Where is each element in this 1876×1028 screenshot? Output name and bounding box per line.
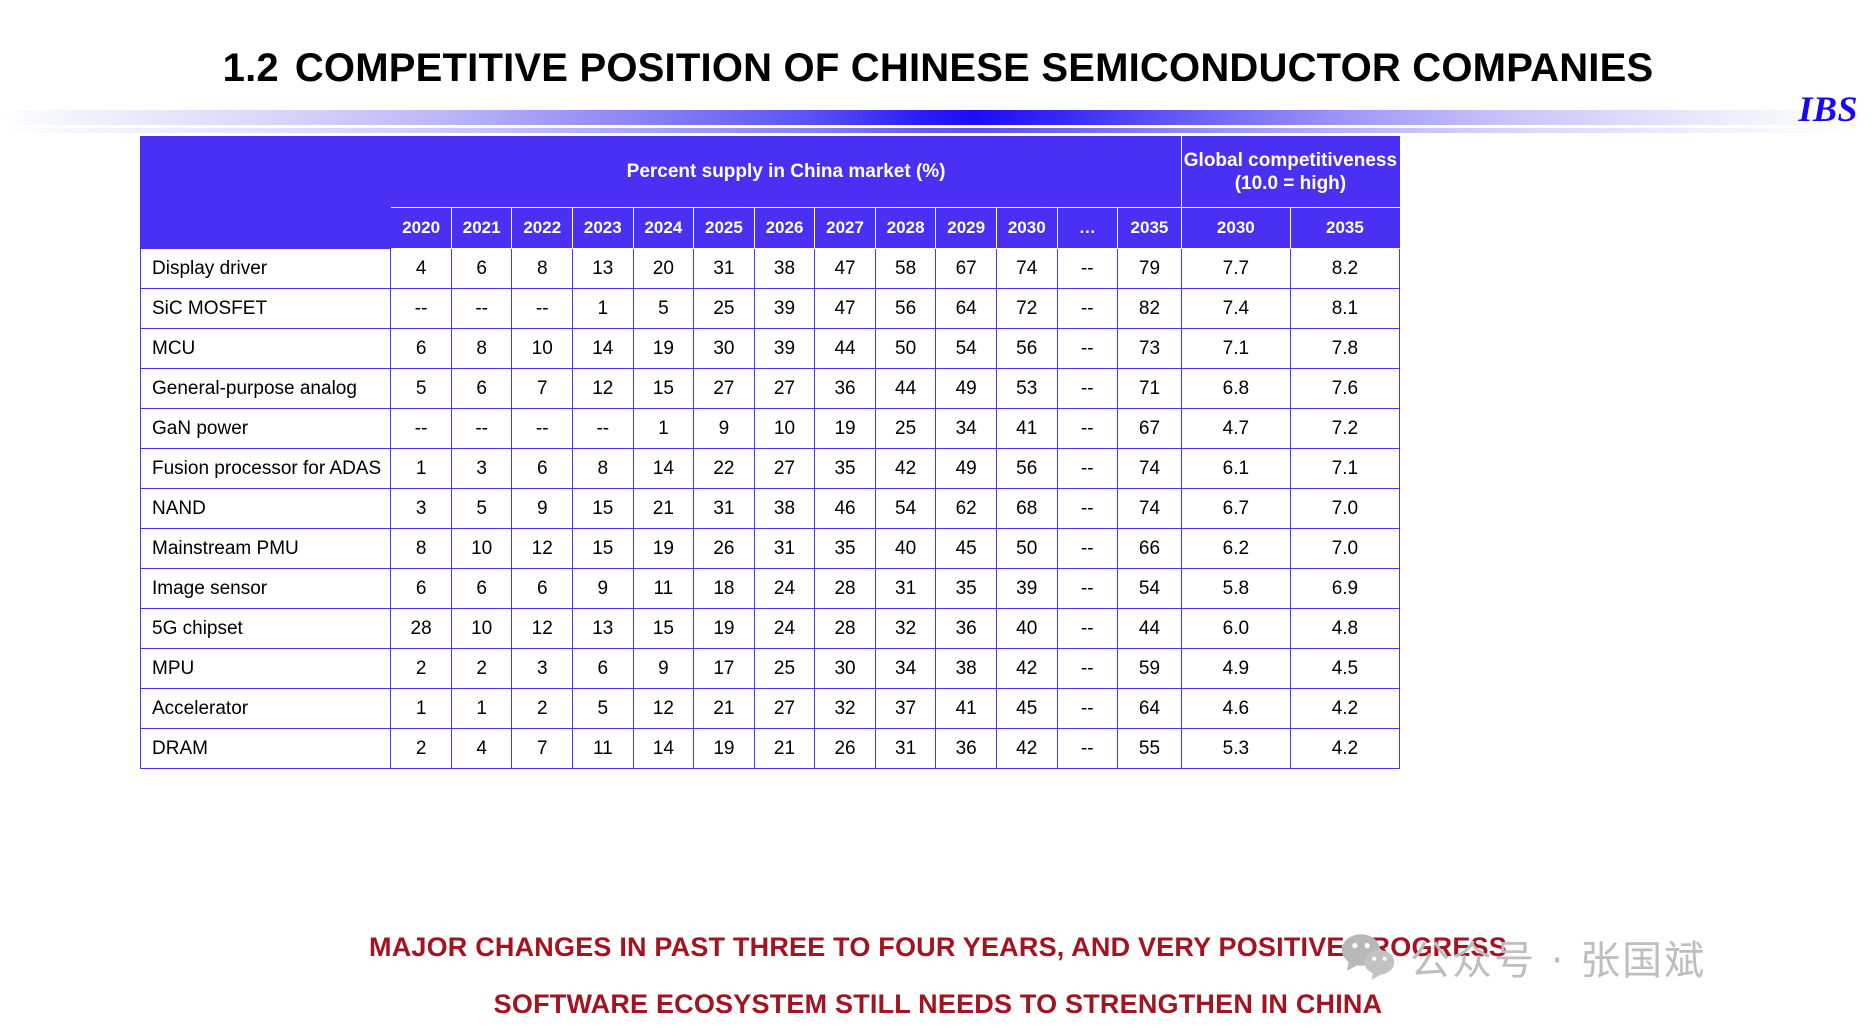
row-label: General-purpose analog: [141, 369, 391, 409]
cell-supply: 6: [451, 569, 512, 609]
cell-competitiveness: 4.7: [1181, 409, 1290, 449]
cell-supply: 2: [391, 649, 452, 689]
cell-supply: 50: [996, 529, 1057, 569]
cell-supply: 44: [1118, 609, 1182, 649]
cell-supply: 62: [936, 489, 997, 529]
cell-supply: 18: [694, 569, 755, 609]
cell-supply: --: [1057, 729, 1118, 769]
cell-supply: 6: [573, 649, 634, 689]
table-row: MPU22369172530343842--594.94.5: [141, 649, 1400, 689]
ibs-logo: IBS: [1798, 88, 1858, 130]
cell-supply: 68: [996, 489, 1057, 529]
cell-supply: --: [1057, 609, 1118, 649]
table-row: Display driver4681320313847586774--797.7…: [141, 249, 1400, 289]
cell-supply: 1: [391, 689, 452, 729]
header-gc-line2: (10.0 = high): [1182, 172, 1399, 195]
cell-supply: 24: [754, 609, 815, 649]
cell-supply: 5: [633, 289, 694, 329]
cell-supply: 74: [996, 249, 1057, 289]
cell-supply: 74: [1118, 449, 1182, 489]
cell-supply: 56: [996, 329, 1057, 369]
cell-supply: 67: [936, 249, 997, 289]
cell-supply: --: [1057, 449, 1118, 489]
cell-supply: 6: [512, 569, 573, 609]
cell-supply: 19: [694, 729, 755, 769]
cell-competitiveness: 4.5: [1290, 649, 1399, 689]
cell-supply: 31: [694, 489, 755, 529]
cell-supply: 41: [936, 689, 997, 729]
cell-competitiveness: 7.6: [1290, 369, 1399, 409]
cell-supply: 39: [996, 569, 1057, 609]
table-body: Display driver4681320313847586774--797.7…: [141, 249, 1400, 769]
cell-supply: 2: [451, 649, 512, 689]
row-label: MCU: [141, 329, 391, 369]
cell-supply: 42: [996, 649, 1057, 689]
cell-supply: 10: [754, 409, 815, 449]
cell-supply: 12: [512, 609, 573, 649]
cell-competitiveness: 6.9: [1290, 569, 1399, 609]
cell-supply: 3: [451, 449, 512, 489]
cell-supply: 1: [451, 689, 512, 729]
row-label: SiC MOSFET: [141, 289, 391, 329]
cell-supply: 28: [815, 609, 876, 649]
cell-supply: 12: [512, 529, 573, 569]
cell-competitiveness: 5.8: [1181, 569, 1290, 609]
cell-supply: 9: [573, 569, 634, 609]
cell-supply: 19: [633, 329, 694, 369]
cell-supply: 45: [936, 529, 997, 569]
cell-competitiveness: 6.2: [1181, 529, 1290, 569]
cell-supply: 25: [694, 289, 755, 329]
cell-supply: --: [1057, 649, 1118, 689]
cell-supply: 21: [694, 689, 755, 729]
cell-supply: --: [1057, 329, 1118, 369]
header-year-2029: 2029: [936, 208, 997, 249]
row-label: GaN power: [141, 409, 391, 449]
cell-supply: 66: [1118, 529, 1182, 569]
cell-supply: 26: [694, 529, 755, 569]
cell-competitiveness: 4.8: [1290, 609, 1399, 649]
cell-supply: 74: [1118, 489, 1182, 529]
cell-supply: 47: [815, 249, 876, 289]
cell-supply: 56: [996, 449, 1057, 489]
cell-supply: 14: [633, 729, 694, 769]
table-row: DRAM2471114192126313642--555.34.2: [141, 729, 1400, 769]
cell-competitiveness: 7.2: [1290, 409, 1399, 449]
cell-supply: --: [451, 289, 512, 329]
cell-supply: 4: [451, 729, 512, 769]
cell-supply: --: [1057, 569, 1118, 609]
cell-supply: 31: [694, 249, 755, 289]
cell-supply: 13: [573, 609, 634, 649]
cell-supply: 24: [754, 569, 815, 609]
cell-competitiveness: 8.2: [1290, 249, 1399, 289]
cell-supply: 6: [512, 449, 573, 489]
cell-supply: 42: [875, 449, 936, 489]
cell-supply: 44: [815, 329, 876, 369]
cell-supply: 28: [391, 609, 452, 649]
cell-supply: 6: [451, 369, 512, 409]
header-gc-year-2030: 2030: [1181, 208, 1290, 249]
cell-supply: 15: [573, 529, 634, 569]
cell-supply: 40: [996, 609, 1057, 649]
cell-supply: --: [512, 289, 573, 329]
cell-competitiveness: 7.0: [1290, 529, 1399, 569]
cell-supply: 67: [1118, 409, 1182, 449]
cell-supply: 38: [754, 489, 815, 529]
cell-supply: 27: [754, 369, 815, 409]
cell-supply: 14: [573, 329, 634, 369]
data-table: Percent supply in China market (%) Globa…: [140, 136, 1400, 769]
cell-supply: 71: [1118, 369, 1182, 409]
gradient-bar-secondary: [0, 128, 1876, 133]
cell-supply: --: [1057, 249, 1118, 289]
cell-supply: 8: [391, 529, 452, 569]
cell-supply: 42: [996, 729, 1057, 769]
cell-supply: 31: [754, 529, 815, 569]
cell-supply: 21: [754, 729, 815, 769]
cell-supply: 6: [391, 569, 452, 609]
footnote-line-1: MAJOR CHANGES IN PAST THREE TO FOUR YEAR…: [0, 932, 1876, 963]
cell-competitiveness: 7.0: [1290, 489, 1399, 529]
cell-supply: 26: [815, 729, 876, 769]
cell-supply: 38: [936, 649, 997, 689]
cell-supply: 1: [633, 409, 694, 449]
cell-supply: 46: [815, 489, 876, 529]
cell-supply: 5: [391, 369, 452, 409]
cell-supply: --: [1057, 489, 1118, 529]
cell-supply: 5: [451, 489, 512, 529]
cell-competitiveness: 4.6: [1181, 689, 1290, 729]
header-year-2020: 2020: [391, 208, 452, 249]
cell-supply: 27: [754, 449, 815, 489]
cell-supply: --: [391, 289, 452, 329]
cell-supply: 31: [875, 729, 936, 769]
table-row: 5G chipset2810121315192428323640--446.04…: [141, 609, 1400, 649]
cell-supply: 64: [1118, 689, 1182, 729]
cell-supply: 25: [754, 649, 815, 689]
cell-supply: 47: [815, 289, 876, 329]
cell-supply: 27: [694, 369, 755, 409]
cell-supply: 8: [573, 449, 634, 489]
cell-competitiveness: 8.1: [1290, 289, 1399, 329]
table-row: SiC MOSFET------15253947566472--827.48.1: [141, 289, 1400, 329]
header-percent-supply: Percent supply in China market (%): [391, 137, 1181, 208]
cell-competitiveness: 6.1: [1181, 449, 1290, 489]
cell-supply: 15: [633, 369, 694, 409]
row-label: Mainstream PMU: [141, 529, 391, 569]
cell-supply: 39: [754, 329, 815, 369]
header-gc-line1: Global competitiveness: [1182, 149, 1399, 172]
gradient-bar-primary: [0, 110, 1876, 125]
cell-supply: 19: [694, 609, 755, 649]
cell-competitiveness: 7.8: [1290, 329, 1399, 369]
row-label: 5G chipset: [141, 609, 391, 649]
cell-supply: --: [1057, 289, 1118, 329]
cell-supply: 19: [633, 529, 694, 569]
header-year-2021: 2021: [451, 208, 512, 249]
cell-supply: 58: [875, 249, 936, 289]
row-label: NAND: [141, 489, 391, 529]
header-global-competitiveness: Global competitiveness (10.0 = high): [1181, 137, 1399, 208]
cell-competitiveness: 7.1: [1181, 329, 1290, 369]
cell-supply: 49: [936, 449, 997, 489]
cell-supply: 45: [996, 689, 1057, 729]
cell-supply: 9: [694, 409, 755, 449]
row-label: Fusion processor for ADAS: [141, 449, 391, 489]
cell-supply: 10: [512, 329, 573, 369]
cell-supply: 38: [754, 249, 815, 289]
cell-supply: 36: [936, 609, 997, 649]
cell-supply: --: [451, 409, 512, 449]
cell-competitiveness: 6.8: [1181, 369, 1290, 409]
table-row: Mainstream PMU810121519263135404550--666…: [141, 529, 1400, 569]
cell-supply: 8: [512, 249, 573, 289]
table-row: Image sensor666911182428313539--545.86.9: [141, 569, 1400, 609]
cell-supply: 31: [875, 569, 936, 609]
row-label: Display driver: [141, 249, 391, 289]
cell-competitiveness: 4.9: [1181, 649, 1290, 689]
cell-supply: 32: [875, 609, 936, 649]
cell-supply: 36: [815, 369, 876, 409]
cell-supply: 54: [875, 489, 936, 529]
row-label: MPU: [141, 649, 391, 689]
cell-supply: 54: [1118, 569, 1182, 609]
cell-supply: 10: [451, 609, 512, 649]
header-year-2023: 2023: [573, 208, 634, 249]
table-row: Accelerator112512212732374145--644.64.2: [141, 689, 1400, 729]
cell-supply: --: [1057, 529, 1118, 569]
cell-supply: 7: [512, 729, 573, 769]
cell-supply: 56: [875, 289, 936, 329]
row-label: Accelerator: [141, 689, 391, 729]
footnote-block: MAJOR CHANGES IN PAST THREE TO FOUR YEAR…: [0, 932, 1876, 1020]
cell-supply: 12: [633, 689, 694, 729]
cell-supply: 73: [1118, 329, 1182, 369]
header-group-row: Percent supply in China market (%) Globa…: [141, 137, 1400, 208]
cell-supply: 3: [391, 489, 452, 529]
page-title: 1.2COMPETITIVE POSITION OF CHINESE SEMIC…: [0, 46, 1876, 91]
cell-supply: 34: [936, 409, 997, 449]
table-row: Fusion processor for ADAS136814222735424…: [141, 449, 1400, 489]
row-label: Image sensor: [141, 569, 391, 609]
cell-competitiveness: 7.4: [1181, 289, 1290, 329]
cell-competitiveness: 4.2: [1290, 689, 1399, 729]
cell-supply: 30: [694, 329, 755, 369]
cell-supply: 55: [1118, 729, 1182, 769]
cell-supply: 17: [694, 649, 755, 689]
cell-supply: 49: [936, 369, 997, 409]
header-corner-blank: [141, 137, 391, 249]
cell-supply: 36: [936, 729, 997, 769]
header-year-2024: 2024: [633, 208, 694, 249]
cell-supply: 3: [512, 649, 573, 689]
cell-competitiveness: 6.0: [1181, 609, 1290, 649]
table-head: Percent supply in China market (%) Globa…: [141, 137, 1400, 249]
cell-supply: 41: [996, 409, 1057, 449]
cell-supply: 30: [815, 649, 876, 689]
cell-supply: 6: [451, 249, 512, 289]
cell-supply: 21: [633, 489, 694, 529]
cell-supply: 11: [573, 729, 634, 769]
cell-supply: --: [391, 409, 452, 449]
cell-supply: --: [1057, 689, 1118, 729]
cell-supply: 10: [451, 529, 512, 569]
slide-number: 1.2: [223, 46, 279, 90]
cell-supply: 32: [815, 689, 876, 729]
cell-competitiveness: 5.3: [1181, 729, 1290, 769]
header-year-2025: 2025: [694, 208, 755, 249]
cell-supply: 11: [633, 569, 694, 609]
cell-supply: 82: [1118, 289, 1182, 329]
header-year-2028: 2028: [875, 208, 936, 249]
table-row: General-purpose analog567121527273644495…: [141, 369, 1400, 409]
cell-supply: --: [512, 409, 573, 449]
header-year-2035: 2035: [1118, 208, 1182, 249]
cell-supply: 13: [573, 249, 634, 289]
header-year-ellipsis: …: [1057, 208, 1118, 249]
table-row: MCU68101419303944505456--737.17.8: [141, 329, 1400, 369]
cell-supply: 25: [875, 409, 936, 449]
cell-supply: 1: [573, 289, 634, 329]
cell-supply: 28: [815, 569, 876, 609]
cell-competitiveness: 7.1: [1290, 449, 1399, 489]
cell-supply: 79: [1118, 249, 1182, 289]
cell-supply: 12: [573, 369, 634, 409]
cell-supply: 2: [391, 729, 452, 769]
cell-competitiveness: 4.2: [1290, 729, 1399, 769]
cell-supply: 64: [936, 289, 997, 329]
cell-supply: 27: [754, 689, 815, 729]
cell-supply: 35: [815, 449, 876, 489]
cell-supply: 54: [936, 329, 997, 369]
table-row: NAND3591521313846546268--746.77.0: [141, 489, 1400, 529]
header-gradient-rule: [0, 104, 1876, 134]
cell-supply: 19: [815, 409, 876, 449]
cell-supply: 37: [875, 689, 936, 729]
table-row: GaN power--------191019253441--674.77.2: [141, 409, 1400, 449]
cell-supply: 6: [391, 329, 452, 369]
cell-supply: --: [1057, 369, 1118, 409]
cell-supply: 39: [754, 289, 815, 329]
header-gc-year-2035: 2035: [1290, 208, 1399, 249]
cell-supply: 8: [451, 329, 512, 369]
cell-supply: 15: [633, 609, 694, 649]
cell-supply: --: [573, 409, 634, 449]
header-year-2027: 2027: [815, 208, 876, 249]
header-year-2022: 2022: [512, 208, 573, 249]
cell-supply: 53: [996, 369, 1057, 409]
cell-supply: 1: [391, 449, 452, 489]
cell-supply: 5: [573, 689, 634, 729]
cell-competitiveness: 6.7: [1181, 489, 1290, 529]
row-label: DRAM: [141, 729, 391, 769]
cell-supply: --: [1057, 409, 1118, 449]
slide-title-text: COMPETITIVE POSITION OF CHINESE SEMICOND…: [295, 46, 1654, 90]
cell-supply: 50: [875, 329, 936, 369]
cell-supply: 35: [936, 569, 997, 609]
cell-supply: 2: [512, 689, 573, 729]
cell-supply: 14: [633, 449, 694, 489]
cell-supply: 4: [391, 249, 452, 289]
cell-supply: 7: [512, 369, 573, 409]
header-year-2026: 2026: [754, 208, 815, 249]
cell-supply: 34: [875, 649, 936, 689]
footnote-line-2: SOFTWARE ECOSYSTEM STILL NEEDS TO STRENG…: [0, 989, 1876, 1020]
cell-supply: 35: [815, 529, 876, 569]
cell-supply: 15: [573, 489, 634, 529]
cell-supply: 9: [633, 649, 694, 689]
cell-supply: 20: [633, 249, 694, 289]
cell-supply: 9: [512, 489, 573, 529]
cell-competitiveness: 7.7: [1181, 249, 1290, 289]
competitive-position-table: Percent supply in China market (%) Globa…: [140, 136, 1400, 769]
cell-supply: 44: [875, 369, 936, 409]
cell-supply: 40: [875, 529, 936, 569]
header-year-2030: 2030: [996, 208, 1057, 249]
cell-supply: 59: [1118, 649, 1182, 689]
cell-supply: 72: [996, 289, 1057, 329]
cell-supply: 22: [694, 449, 755, 489]
